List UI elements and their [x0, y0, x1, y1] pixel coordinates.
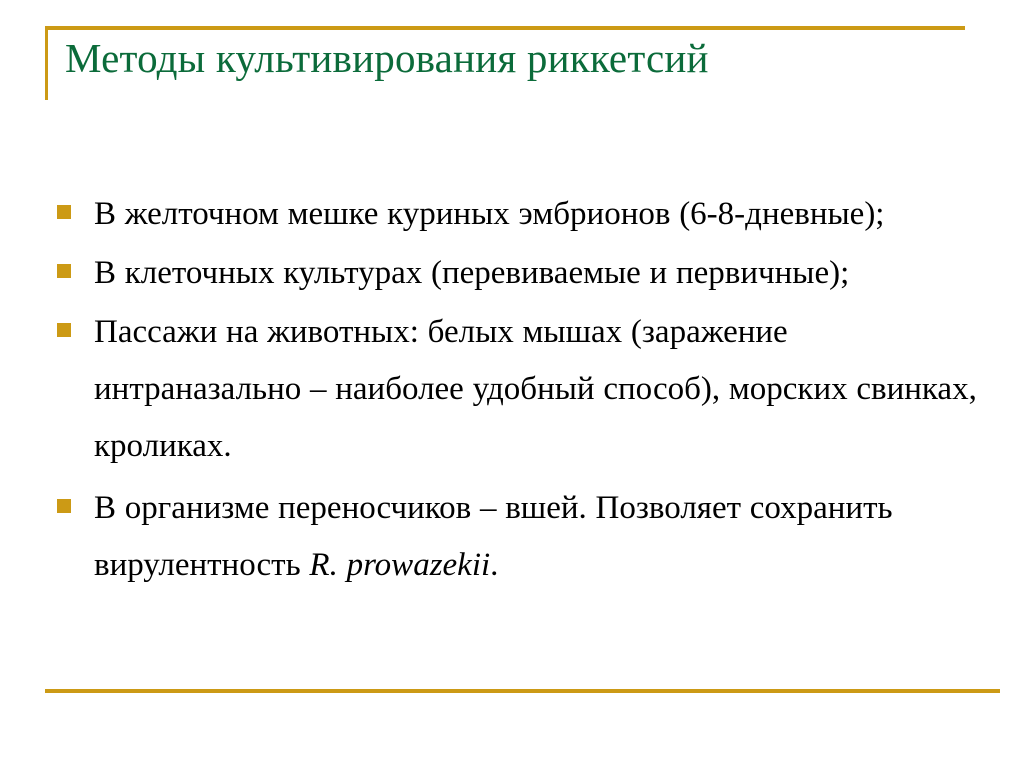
list-item-text: В организме переносчиков – вшей. Позволя… — [94, 480, 979, 594]
title-top-rule — [45, 26, 965, 30]
list-item: Пассажи на животных: белых мышах (зараже… — [57, 304, 982, 475]
list-item: В клеточных культурах (перевиваемые и пе… — [57, 245, 982, 302]
list-item-text: Пассажи на животных: белых мышах (зараже… — [94, 304, 982, 475]
presentation-slide: Методы культивирования риккетсий В желто… — [0, 0, 1024, 767]
list-item-text: В клеточных культурах (перевиваемые и пе… — [94, 245, 949, 302]
list-item: В желточном мешке куриных эмбрионов (6-8… — [57, 186, 982, 243]
species-name: R. prowazekii — [309, 547, 490, 583]
list-item-text-tail: . — [490, 547, 498, 583]
bullet-list: В желточном мешке куриных эмбрионов (6-8… — [57, 186, 982, 598]
title-left-rule — [45, 26, 48, 100]
square-bullet-icon — [57, 499, 71, 513]
title-block: Методы культивирования риккетсий — [45, 26, 965, 100]
list-item: В организме переносчиков – вшей. Позволя… — [57, 480, 982, 594]
list-item-text: В желточном мешке куриных эмбрионов (6-8… — [94, 186, 962, 243]
square-bullet-icon — [57, 205, 71, 219]
square-bullet-icon — [57, 323, 71, 337]
footer-rule — [45, 689, 1000, 693]
square-bullet-icon — [57, 264, 71, 278]
page-title: Методы культивирования риккетсий — [65, 36, 709, 81]
